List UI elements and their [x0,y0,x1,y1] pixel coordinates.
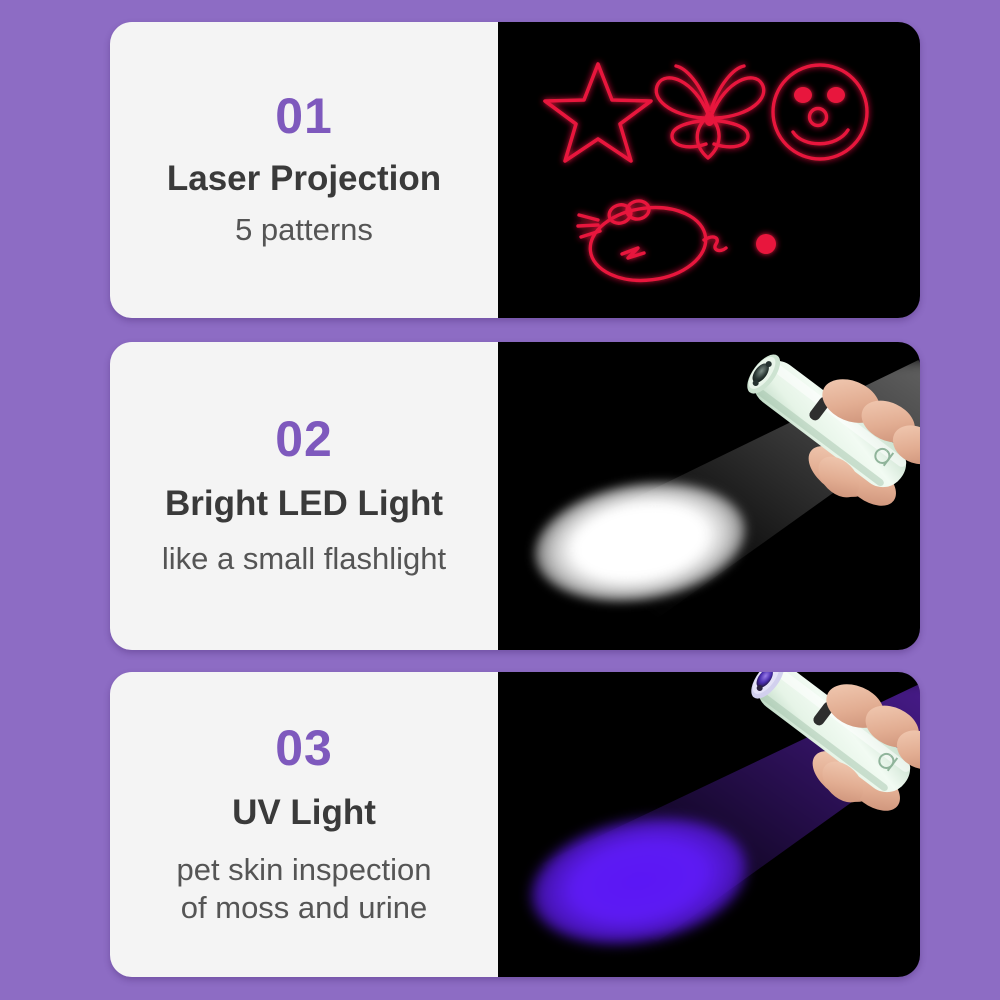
feature-card-laser-projection: 01 Laser Projection 5 patterns [110,22,920,318]
step-title: Laser Projection [167,159,441,199]
card-text-pane: 03 UV Light pet skin inspection of moss … [110,672,498,977]
laser-pattern-display [498,22,920,318]
step-number: 03 [275,723,333,773]
step-title: UV Light [232,793,376,833]
step-title: Bright LED Light [165,484,443,524]
feature-card-led-light: 02 Bright LED Light like a small flashli… [110,342,920,650]
laser-patterns-svg [498,22,920,318]
infographic-page: 01 Laser Projection 5 patterns [0,0,1000,1000]
step-description: 5 patterns [235,211,373,249]
step-number: 02 [275,414,333,464]
step-description-line: of moss and urine [176,889,431,927]
uv-beam-display [498,672,920,977]
card-text-pane: 01 Laser Projection 5 patterns [110,22,498,318]
led-beam-scene [498,342,920,650]
step-number: 01 [275,91,333,141]
feature-card-uv-light: 03 UV Light pet skin inspection of moss … [110,672,920,977]
led-beam-display [498,342,920,650]
step-description: pet skin inspection of moss and urine [176,851,431,927]
hand-holding-pen-uv [720,672,920,836]
step-description: like a small flashlight [162,540,446,578]
card-text-pane: 02 Bright LED Light like a small flashli… [110,342,498,650]
laser-pattern-butterfly [656,66,764,158]
laser-pattern-mouse [578,199,726,287]
laser-pattern-smiley-face [773,65,867,159]
laser-pattern-dot [756,234,776,254]
hand-holding-pen-led [716,342,920,526]
laser-pattern-star [545,64,651,161]
step-description-line: pet skin inspection [176,851,431,889]
uv-beam-scene [498,672,920,977]
